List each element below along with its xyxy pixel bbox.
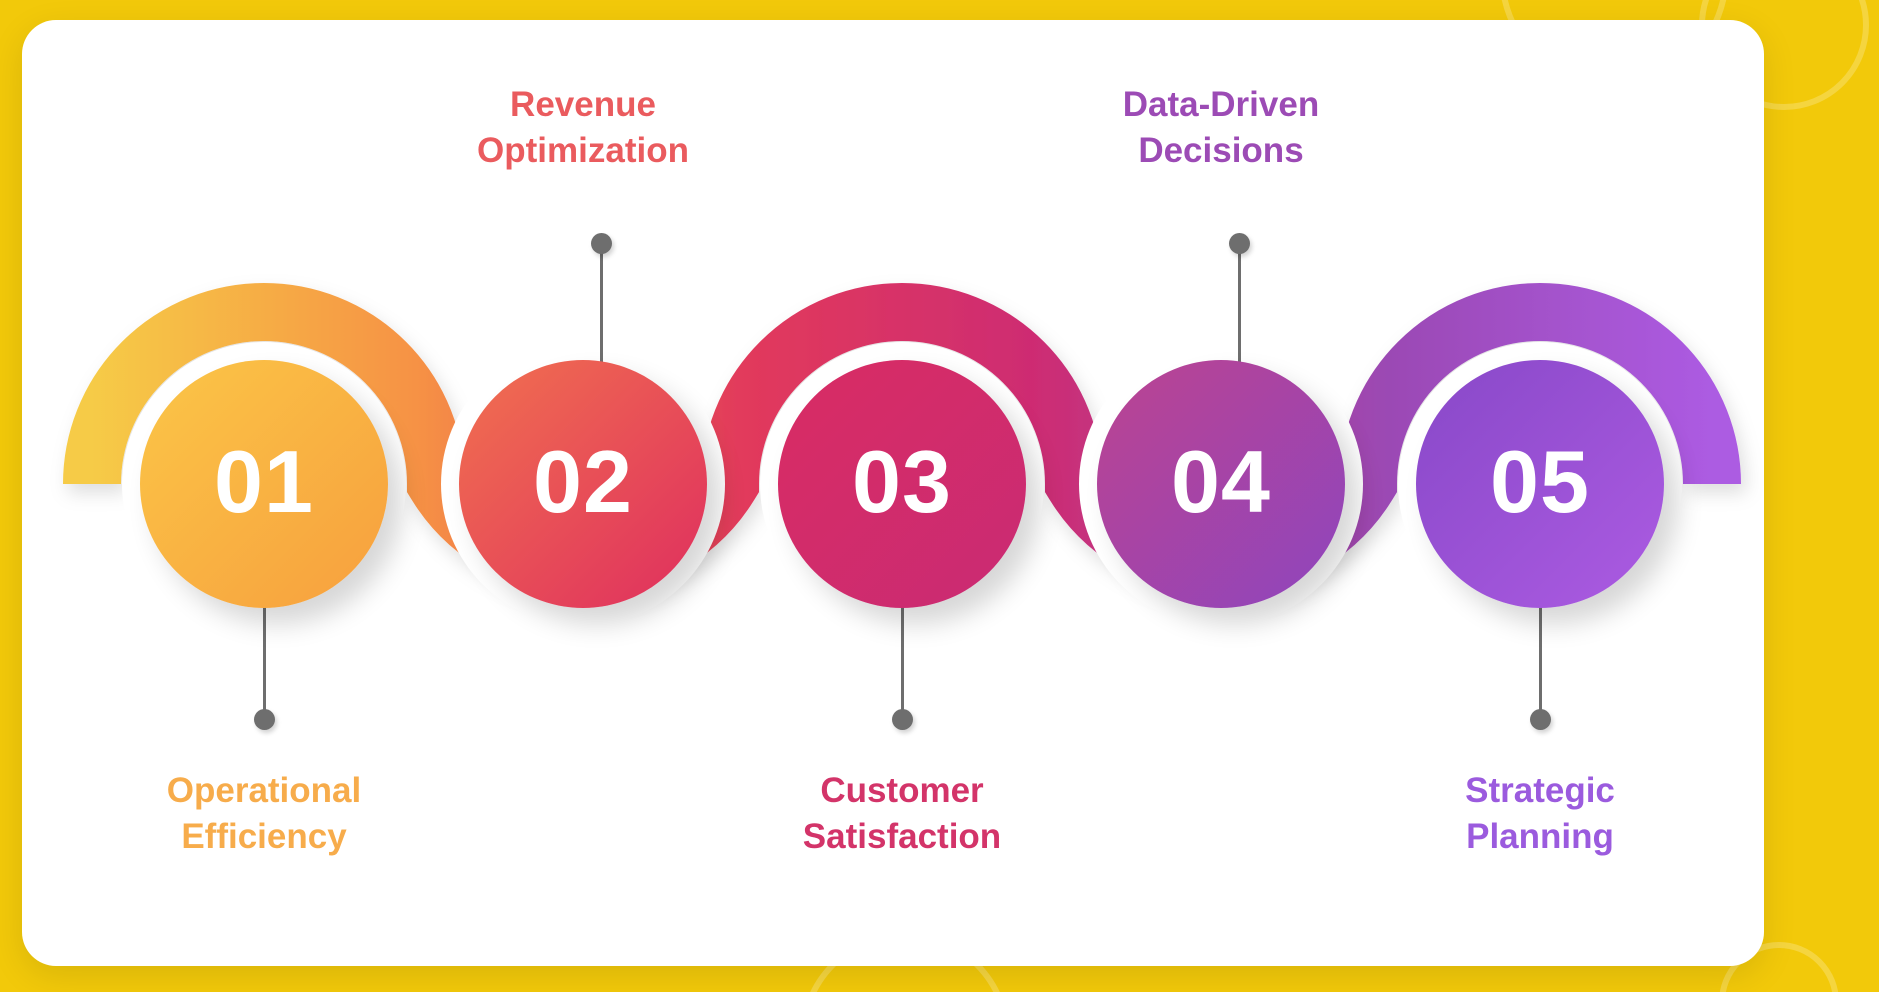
leader-line-step-1 bbox=[263, 598, 266, 720]
leader-dot-icon bbox=[1530, 709, 1551, 730]
step-circle-3[interactable]: 03 bbox=[778, 360, 1026, 608]
step-label-4: Data-Driven Decisions bbox=[1051, 82, 1391, 174]
step-circle-5[interactable]: 05 bbox=[1416, 360, 1664, 608]
leader-dot-icon bbox=[892, 709, 913, 730]
leader-line-step-4 bbox=[1238, 243, 1241, 365]
infographic-card: 01 02 03 04 05 Operational Efficiency Re… bbox=[22, 20, 1764, 966]
leader-line-step-2 bbox=[600, 243, 603, 365]
step-number-5: 05 bbox=[1490, 438, 1590, 526]
step-number-3: 03 bbox=[852, 438, 952, 526]
step-label-5: Strategic Planning bbox=[1370, 768, 1710, 860]
leader-dot-icon bbox=[254, 709, 275, 730]
leader-dot-icon bbox=[1229, 233, 1250, 254]
step-number-4: 04 bbox=[1171, 438, 1271, 526]
leader-line-step-5 bbox=[1539, 598, 1542, 720]
leader-line-step-3 bbox=[901, 598, 904, 720]
leader-dot-icon bbox=[591, 233, 612, 254]
infographic-stage: 01 02 03 04 05 Operational Efficiency Re… bbox=[22, 20, 1764, 966]
step-label-2: Revenue Optimization bbox=[413, 82, 753, 174]
step-label-3: Customer Satisfaction bbox=[732, 768, 1072, 860]
step-circle-4[interactable]: 04 bbox=[1097, 360, 1345, 608]
step-circle-2[interactable]: 02 bbox=[459, 360, 707, 608]
step-number-2: 02 bbox=[533, 438, 633, 526]
step-number-1: 01 bbox=[214, 438, 314, 526]
step-circle-1[interactable]: 01 bbox=[140, 360, 388, 608]
step-label-1: Operational Efficiency bbox=[94, 768, 434, 860]
